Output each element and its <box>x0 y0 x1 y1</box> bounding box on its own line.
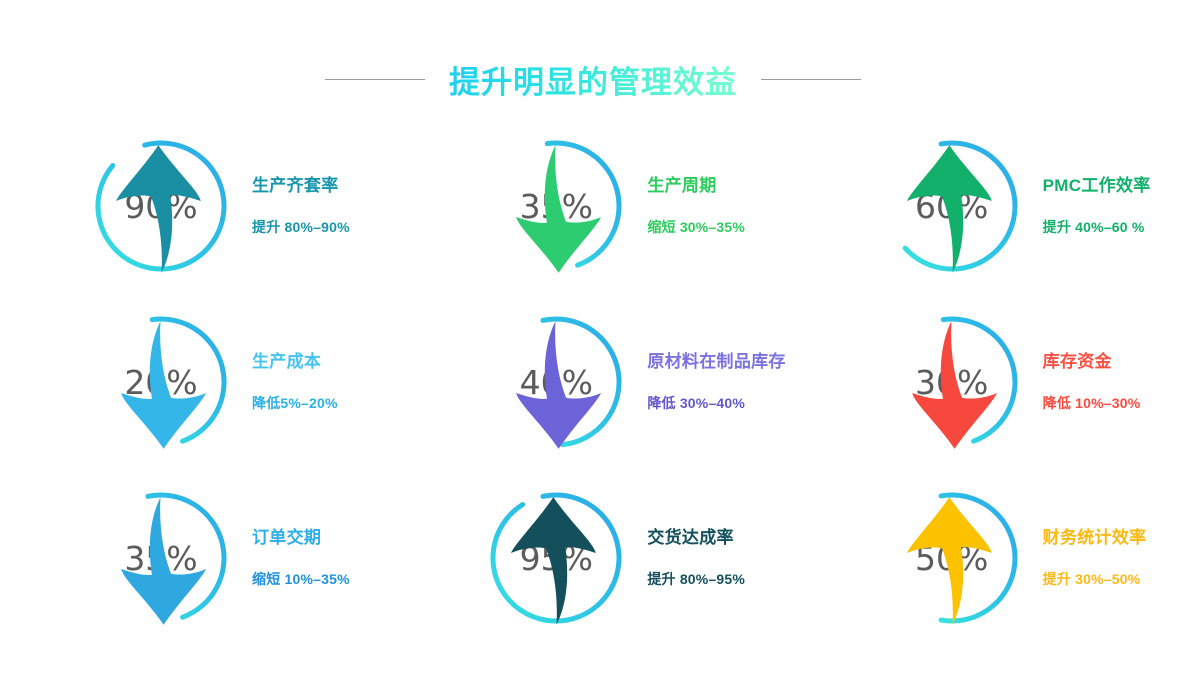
gauge-center: 30% <box>883 313 1021 451</box>
gauge-center: 90% <box>92 137 230 275</box>
page-header: 提升明显的管理效益 <box>0 52 1186 106</box>
metric-card: 35% 订单交期 缩短 10%–35% <box>0 470 395 646</box>
gauge-center: 50% <box>883 489 1021 627</box>
trend-arrow-icon <box>487 492 625 630</box>
gauge-financial-statistics-efficiency: 50% <box>883 489 1021 627</box>
trend-arrow-icon <box>883 316 1021 454</box>
metrics-grid: 90% 生产齐套率 提升 80%–90% 35% <box>0 118 1186 646</box>
gauge-center: 35% <box>92 489 230 627</box>
trend-arrow-icon <box>487 140 625 278</box>
metric-labels: 订单交期 缩短 10%–35% <box>252 528 350 587</box>
metric-card: 60% PMC工作效率 提升 40%–60 % <box>791 118 1186 294</box>
gauge-center: 60% <box>883 137 1021 275</box>
metric-title: 库存资金 <box>1043 352 1141 372</box>
gauge-production-kitting-rate: 90% <box>92 137 230 275</box>
metric-title: 生产周期 <box>647 176 745 196</box>
metric-title: 订单交期 <box>252 528 350 548</box>
metric-labels: 库存资金 降低 10%–30% <box>1043 352 1141 411</box>
trend-arrow-icon <box>92 140 230 278</box>
header-rule-right <box>761 79 861 80</box>
trend-arrow-icon <box>92 316 230 454</box>
gauge-pmc-work-efficiency: 60% <box>883 137 1021 275</box>
metric-subtitle: 提升 80%–95% <box>647 571 745 588</box>
metric-title: 生产成本 <box>252 352 338 372</box>
gauge-delivery-achievement-rate: 95% <box>487 489 625 627</box>
metric-labels: 原材料在制品库存 降低 30%–40% <box>647 352 785 411</box>
gauge-center: 20% <box>92 313 230 451</box>
metric-subtitle: 提升 40%–60 % <box>1043 219 1151 236</box>
gauge-raw-material-wip-inventory: 40% <box>487 313 625 451</box>
metric-subtitle: 缩短 10%–35% <box>252 571 350 588</box>
metric-card: 20% 生产成本 降低5%–20% <box>0 294 395 470</box>
metric-title: 交货达成率 <box>647 528 745 548</box>
gauge-center: 40% <box>487 313 625 451</box>
metric-title: 原材料在制品库存 <box>647 352 785 372</box>
metric-labels: 生产周期 缩短 30%–35% <box>647 176 745 235</box>
gauge-production-cycle: 35% <box>487 137 625 275</box>
metric-card: 95% 交货达成率 提升 80%–95% <box>395 470 790 646</box>
page-title: 提升明显的管理效益 <box>449 57 737 102</box>
metric-card: 35% 生产周期 缩短 30%–35% <box>395 118 790 294</box>
metric-card: 30% 库存资金 降低 10%–30% <box>791 294 1186 470</box>
metric-card: 90% 生产齐套率 提升 80%–90% <box>0 118 395 294</box>
gauge-center: 95% <box>487 489 625 627</box>
metric-labels: 生产成本 降低5%–20% <box>252 352 338 411</box>
metric-labels: 交货达成率 提升 80%–95% <box>647 528 745 587</box>
metric-title: 财务统计效率 <box>1043 528 1147 548</box>
metric-labels: PMC工作效率 提升 40%–60 % <box>1043 176 1151 235</box>
metric-card: 40% 原材料在制品库存 降低 30%–40% <box>395 294 790 470</box>
metric-subtitle: 降低5%–20% <box>252 395 338 412</box>
gauge-order-lead-time: 35% <box>92 489 230 627</box>
header-rule-left <box>325 79 425 80</box>
metric-title: PMC工作效率 <box>1043 176 1151 196</box>
metric-subtitle: 缩短 30%–35% <box>647 219 745 236</box>
metric-subtitle: 提升 80%–90% <box>252 219 350 236</box>
gauge-inventory-capital: 30% <box>883 313 1021 451</box>
metric-subtitle: 提升 30%–50% <box>1043 571 1147 588</box>
trend-arrow-icon <box>883 492 1021 630</box>
trend-arrow-icon <box>883 140 1021 278</box>
gauge-production-cost: 20% <box>92 313 230 451</box>
metric-subtitle: 降低 10%–30% <box>1043 395 1141 412</box>
metric-title: 生产齐套率 <box>252 176 350 196</box>
metric-card: 50% 财务统计效率 提升 30%–50% <box>791 470 1186 646</box>
metric-subtitle: 降低 30%–40% <box>647 395 785 412</box>
metric-labels: 财务统计效率 提升 30%–50% <box>1043 528 1147 587</box>
trend-arrow-icon <box>487 316 625 454</box>
metric-labels: 生产齐套率 提升 80%–90% <box>252 176 350 235</box>
gauge-center: 35% <box>487 137 625 275</box>
trend-arrow-icon <box>92 492 230 630</box>
